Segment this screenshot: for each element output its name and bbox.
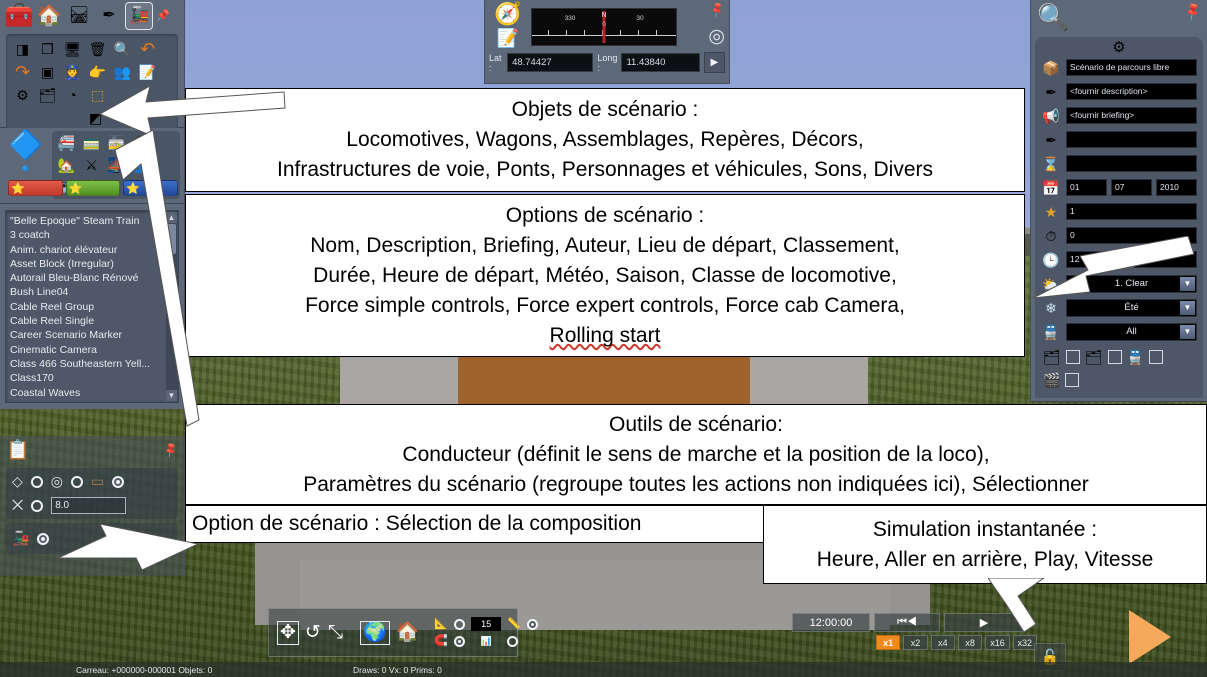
duration-field[interactable]: 0 bbox=[1066, 227, 1197, 244]
pin-icon[interactable]: 📌 bbox=[156, 3, 170, 29]
left-toolbar-panel: 🧰 🏠 🛤 ✒ 🚂 📌 ◨ ❐ 🖥 🗑 🔍 ↶ ↷ ▣ 👮 👉 👥 📝 ⚙ bbox=[0, 0, 185, 128]
date-month-field[interactable]: 07 bbox=[1111, 179, 1152, 196]
texture-tool-radio[interactable] bbox=[112, 476, 124, 488]
scenario-briefing-field[interactable]: <fournir briefing> bbox=[1066, 107, 1197, 124]
annotation-line: Nom, Description, Briefing, Auteur, Lieu… bbox=[192, 231, 1018, 261]
calendar-icon: 📅 bbox=[1041, 180, 1061, 196]
rating-stars-icon: ★ bbox=[1041, 204, 1061, 220]
force-simple-controls-icon: 🗂 bbox=[1043, 350, 1061, 364]
copy-icon[interactable]: ❐ bbox=[35, 37, 60, 60]
ruler-radio[interactable] bbox=[527, 619, 538, 630]
compass-strip[interactable]: 330 30 N 0 bbox=[531, 8, 677, 46]
compass-right-icons: 📌 ◎ bbox=[708, 4, 725, 48]
terrain-tool-options: ◇ ◎ ▭ ⨉ 8.0 bbox=[6, 468, 178, 519]
loco-class-select-value: All bbox=[1126, 326, 1137, 337]
scenery-icon[interactable]: 🏡 bbox=[54, 154, 79, 176]
camera-lens-icon[interactable]: ◎ bbox=[708, 25, 725, 48]
playback-speed-controls: x1 x2 x4 x8 x16 x32 bbox=[792, 635, 1037, 650]
date-fields: 01 07 2010 bbox=[1066, 179, 1197, 196]
scenario-flags-row-2: 🎬 bbox=[1041, 373, 1197, 387]
season-icon: ❄ bbox=[1041, 300, 1061, 316]
loco-tool-row: 🚂 bbox=[12, 530, 172, 547]
scenario-duration-row: ⏱ 0 bbox=[1041, 226, 1197, 245]
rating-field[interactable]: 1 bbox=[1066, 203, 1197, 220]
snap-row-2: 🧲 📊 bbox=[434, 634, 537, 648]
terrain-tool-row-1: ◇ ◎ ▭ bbox=[12, 473, 172, 490]
assembly-icon[interactable]: 🚋 bbox=[104, 132, 129, 154]
loco-tool-icon[interactable]: 🚂 bbox=[12, 530, 29, 547]
list-item[interactable]: 3 coatch bbox=[10, 228, 174, 242]
marker-post-icon[interactable]: 🚦 bbox=[129, 132, 154, 154]
coordinates-row: Lat : 48.74427 Long : 11.43840 ▶ bbox=[489, 52, 725, 73]
favorites-red[interactable]: ⭐ bbox=[8, 180, 63, 196]
simulation-playback-bar: 12:00:00 ⏮◀ ▶ x1 x2 x4 x8 x16 x32 bbox=[792, 613, 1037, 649]
scenario-description-icon: ✒ bbox=[1041, 84, 1061, 100]
view-tools-group: 🌍 🏠 bbox=[352, 609, 428, 656]
screen-icon[interactable]: 🖥 bbox=[60, 37, 85, 60]
wagon-icon[interactable]: 🚃 bbox=[79, 132, 104, 154]
asset-list[interactable]: "Belle Epoque" Steam Train 3 coatch Anim… bbox=[5, 210, 179, 403]
gradient-tool-icon[interactable]: ◇ bbox=[12, 473, 23, 490]
weather-icon: ⛅ bbox=[1041, 276, 1061, 292]
scenario-name-icon: 📦 bbox=[1041, 60, 1061, 76]
loco-class-icon: 🚆 bbox=[1041, 324, 1061, 340]
people-icon[interactable]: 👥 bbox=[110, 60, 135, 83]
list-item[interactable]: Bush Line04 bbox=[10, 285, 174, 299]
force-cab-camera-icon: 🚆 bbox=[1127, 350, 1144, 364]
annotation-line: Objets de scénario : bbox=[192, 95, 1018, 125]
scenario-start-time-row: 🕒 12 00 bbox=[1041, 250, 1197, 269]
list-item[interactable]: Autorail Bleu-Blanc Rénové bbox=[10, 271, 174, 285]
annotation-scenario-options: Options de scénario : Nom, Description, … bbox=[185, 194, 1025, 357]
simulation-time-display[interactable]: 12:00:00 bbox=[792, 613, 870, 632]
weather-select[interactable]: 1. Clear ▼ bbox=[1066, 275, 1197, 293]
instruction-icon[interactable]: 📝 bbox=[135, 60, 160, 83]
terrain-tools-header: 📋 📌 bbox=[0, 436, 184, 464]
scenario-name-field[interactable]: Scénario de parcours libre bbox=[1066, 59, 1197, 76]
duration-icon: ⏱ bbox=[1041, 228, 1061, 244]
speed-x1-button[interactable]: x1 bbox=[876, 635, 900, 650]
season-select-value: Été bbox=[1124, 302, 1138, 313]
scenario-loco-class-row: 🚆 All ▼ bbox=[1041, 322, 1197, 341]
favorites-blue[interactable]: ⭐ bbox=[123, 180, 178, 196]
transform-tools-group: ✥ ↺ ⤡ bbox=[269, 609, 352, 656]
list-item[interactable]: Career Scenario Marker bbox=[10, 328, 174, 342]
star-icon: ⭐ bbox=[69, 182, 83, 195]
track-infrastructure-icon[interactable]: ⚔ bbox=[79, 154, 104, 176]
redo-icon[interactable]: ↷ bbox=[10, 60, 35, 83]
annotation-scenario-objects: Objets de scénario : Locomotives, Wagons… bbox=[185, 88, 1025, 192]
track-icon[interactable]: 🛤 bbox=[66, 3, 92, 29]
rolling-start-checkbox[interactable] bbox=[1065, 373, 1079, 387]
compass-north-label: N bbox=[601, 12, 606, 19]
consist-icon[interactable]: ▣ bbox=[35, 60, 60, 83]
pin-icon[interactable]: 📌 bbox=[1182, 1, 1204, 23]
loco-tool-radio[interactable] bbox=[37, 533, 49, 545]
pin-icon[interactable]: 📌 bbox=[706, 0, 727, 20]
lat-label: Lat : bbox=[489, 53, 503, 73]
compass-tick-label-330: 330 bbox=[565, 15, 576, 22]
asset-list-scrollbar[interactable]: ▲ ▼ bbox=[166, 212, 177, 401]
force-cab-camera-checkbox[interactable] bbox=[1149, 350, 1163, 364]
magnet-radio[interactable] bbox=[454, 636, 465, 647]
list-item[interactable]: Class170 bbox=[10, 371, 174, 385]
home-view-icon[interactable]: 🏠 bbox=[396, 623, 420, 643]
cube-small-icon[interactable]: 🔹 bbox=[15, 160, 36, 177]
loco-tool-box: 🚂 bbox=[6, 523, 178, 554]
scenario-start-location-icon: ⌛ bbox=[1041, 156, 1061, 172]
cube-large-icon[interactable]: 🔷 bbox=[9, 131, 44, 159]
list-item[interactable]: Cable Reel Group bbox=[10, 300, 174, 314]
favorites-green[interactable]: ⭐ bbox=[66, 180, 121, 196]
annotation-line: Options de scénario : bbox=[192, 201, 1018, 231]
terrain-tool-row-2: ⨉ 8.0 bbox=[12, 497, 172, 514]
speed-x8-button[interactable]: x8 bbox=[958, 635, 982, 650]
locomotive-icon[interactable]: 🚝 bbox=[54, 132, 79, 154]
long-label: Long : bbox=[597, 53, 617, 73]
scenario-properties-body: ⚙ 📦 Scénario de parcours libre ✒ <fourni… bbox=[1035, 36, 1203, 398]
speed-x4-button[interactable]: x4 bbox=[931, 635, 955, 650]
list-item[interactable]: "Belle Epoque" Steam Train bbox=[10, 214, 174, 228]
annotation-line: Force simple controls, Force expert cont… bbox=[192, 291, 1018, 321]
clock-icon: 🕒 bbox=[1041, 252, 1061, 268]
annotation-line: Conducteur (définit le sens de marche et… bbox=[192, 440, 1200, 470]
force-expert-controls-checkbox[interactable] bbox=[1108, 350, 1122, 364]
season-select[interactable]: Été ▼ bbox=[1066, 299, 1197, 317]
play-button[interactable]: ▶ bbox=[944, 613, 1024, 632]
delete-icon[interactable]: 🗑 bbox=[85, 37, 110, 60]
rewind-button[interactable]: ⏮◀ bbox=[874, 613, 940, 632]
list-item[interactable]: Asset Block (Irregular) bbox=[10, 257, 174, 271]
annotation-consist-selection: Option de scénario : Sélection de la com… bbox=[185, 505, 765, 543]
rotate-tool-icon[interactable]: ↺ bbox=[305, 623, 321, 643]
brush-size-field[interactable]: 8.0 bbox=[51, 497, 126, 514]
gradient-tool-radio[interactable] bbox=[31, 476, 43, 488]
marker-icon[interactable]: 🔍 bbox=[110, 37, 135, 60]
snap-value-field[interactable]: 15 bbox=[471, 617, 501, 631]
list-item[interactable]: Class 466 Southeastern Yell... bbox=[10, 357, 174, 371]
start-time-fields: 12 00 bbox=[1066, 251, 1197, 268]
gradient-snap-icon[interactable]: 📐 bbox=[434, 618, 448, 630]
annotation-line: Simulation instantanée : bbox=[770, 515, 1200, 545]
note-icon[interactable]: 📋 bbox=[6, 438, 30, 462]
scenario-properties-header: 🔍 📌 bbox=[1031, 0, 1207, 36]
annotation-line: Paramètres du scénario (regroupe toutes … bbox=[192, 470, 1200, 500]
status-render-info: Draws: 0 Vx: 0 Prims: 0 bbox=[353, 665, 442, 675]
force-simple-controls-checkbox[interactable] bbox=[1066, 350, 1080, 364]
note-icon[interactable]: 📝 bbox=[489, 26, 527, 50]
asset-list-items: "Belle Epoque" Steam Train 3 coatch Anim… bbox=[6, 211, 178, 403]
coords-radio[interactable] bbox=[507, 636, 518, 647]
main-tool-row: 🧰 🏠 🛤 ✒ 🚂 📌 bbox=[0, 0, 184, 32]
date-day-field[interactable]: 01 bbox=[1066, 179, 1107, 196]
circle-tool-icon[interactable]: ◎ bbox=[51, 473, 63, 490]
scenario-tool-grid: ◨ ❐ 🖥 🗑 🔍 ↶ ↷ ▣ 👮 👉 👥 📝 ⚙ 🗂 ◔ ⬚ ◩ bbox=[10, 37, 174, 129]
circle-tool-radio[interactable] bbox=[71, 476, 83, 488]
annotation-line: Durée, Heure de départ, Météo, Saison, C… bbox=[192, 261, 1018, 291]
lat-field[interactable]: 48.74427 bbox=[507, 53, 593, 72]
start-time-minutes-field[interactable]: 00 bbox=[1134, 251, 1198, 268]
compass-coordinates-panel: 🧭 📝 330 30 N 0 📌 ◎ Lat : 48.74427 Long : bbox=[484, 0, 730, 84]
smooth-tool-icon[interactable]: ⨉ bbox=[12, 497, 23, 514]
asset-list-panel: "Belle Epoque" Steam Train 3 coatch Anim… bbox=[0, 204, 185, 409]
scenario-start-location-field[interactable] bbox=[1066, 155, 1197, 172]
chevron-down-icon[interactable]: ▼ bbox=[1180, 277, 1195, 291]
magnifier-icon[interactable]: 🔍 bbox=[1037, 2, 1069, 33]
chevron-down-icon[interactable]: ▼ bbox=[1180, 301, 1195, 315]
select-rect-icon[interactable]: ⬚ bbox=[85, 83, 110, 106]
magnet-icon[interactable]: 🧲 bbox=[434, 635, 448, 647]
playback-controls: 12:00:00 ⏮◀ ▶ bbox=[792, 613, 1037, 632]
list-item[interactable]: Cable Reel Single bbox=[10, 314, 174, 328]
speed-x16-button[interactable]: x16 bbox=[985, 635, 1009, 650]
goto-coordinates-button[interactable]: ▶ bbox=[704, 52, 725, 73]
annotation-line: Locomotives, Wagons, Assemblages, Repère… bbox=[192, 125, 1018, 155]
scenario-name-row: 📦 Scénario de parcours libre bbox=[1041, 58, 1197, 77]
home-icon[interactable]: 🏠 bbox=[36, 3, 62, 29]
list-item[interactable]: Anim. chariot élévateur bbox=[10, 243, 174, 257]
ruler-icon[interactable]: 📏 bbox=[507, 618, 521, 630]
scenario-author-field[interactable] bbox=[1066, 131, 1197, 148]
gears-icon: ⚙ bbox=[1041, 40, 1197, 58]
status-bar: Carreau: +000000-000001 Objets: 0 Draws:… bbox=[0, 662, 1207, 677]
compass-rose-icon[interactable]: 🧭 bbox=[489, 2, 527, 26]
scenario-author-icon: ✒ bbox=[1041, 132, 1061, 148]
annotation-line: Heure, Aller en arrière, Play, Vitesse bbox=[770, 545, 1200, 575]
annotation-line: Infrastructures de voie, Ponts, Personna… bbox=[192, 155, 1018, 185]
scenario-start-location-row: ⌛ bbox=[1041, 154, 1197, 173]
star-icon: ⭐ bbox=[11, 182, 25, 195]
settings-block-icon[interactable]: 🗂 bbox=[35, 83, 60, 106]
pin-icon[interactable]: 📌 bbox=[162, 441, 181, 460]
driver-icon[interactable]: 👮 bbox=[60, 60, 85, 83]
play-triangle-icon bbox=[1129, 610, 1171, 664]
scenario-date-row: 📅 01 07 2010 bbox=[1041, 178, 1197, 197]
annotation-scenario-tools: Outils de scénario: Conducteur (définit … bbox=[185, 404, 1207, 505]
gradient-snap-radio[interactable] bbox=[454, 619, 465, 630]
compass-zero-label: 0 bbox=[602, 21, 606, 28]
person-icon[interactable]: 👤 bbox=[129, 154, 154, 176]
move-tool-icon[interactable]: ✥ bbox=[278, 622, 298, 644]
scenario-rating-row: ★ 1 bbox=[1041, 202, 1197, 221]
brush-icon[interactable]: ✒ bbox=[96, 3, 122, 29]
viewport-toolbar: ✥ ↺ ⤡ 🌍 🏠 📐 15 📏 🧲 📊 bbox=[268, 608, 518, 657]
speed-x2-button[interactable]: x2 bbox=[903, 635, 927, 650]
undo-icon[interactable]: ↶ bbox=[135, 37, 160, 60]
start-time-hours-field[interactable]: 12 bbox=[1066, 251, 1130, 268]
terrain-tools-panel: 📋 📌 ◇ ◎ ▭ ⨉ 8.0 🚂 bbox=[0, 436, 185, 576]
scrollbar-thumb[interactable] bbox=[167, 224, 176, 254]
bridge-icon[interactable]: 🌉 bbox=[104, 154, 129, 176]
scenario-flags-row-1: 🗂 🗂 🚆 bbox=[1041, 350, 1197, 364]
train-scenario-icon[interactable]: 🚂 bbox=[126, 3, 152, 29]
flip-icon[interactable]: ◨ bbox=[10, 37, 35, 60]
rolling-start-icon: 🎬 bbox=[1043, 373, 1060, 387]
compass-tick-label-30: 30 bbox=[636, 15, 643, 22]
scenario-description-field[interactable]: <fournir description> bbox=[1066, 83, 1197, 100]
long-field[interactable]: 11.43840 bbox=[621, 53, 699, 72]
toolbox-icon[interactable]: 🧰 bbox=[6, 3, 32, 29]
annotation-instant-simulation: Simulation instantanée : Heure, Aller en… bbox=[763, 505, 1207, 584]
snap-row-1: 📐 15 📏 bbox=[434, 617, 537, 631]
coords-icon[interactable]: 📊 bbox=[471, 634, 501, 648]
scroll-up-icon[interactable]: ▲ bbox=[166, 212, 177, 223]
world-view-icon[interactable]: 🌍 bbox=[361, 622, 389, 644]
clock-icon[interactable]: ◔ bbox=[60, 83, 85, 106]
scenario-weather-row: ⛅ 1. Clear ▼ bbox=[1041, 274, 1197, 293]
annotation-line: Option de scénario : Sélection de la com… bbox=[192, 509, 641, 539]
scale-tool-icon[interactable]: ⤡ bbox=[328, 623, 343, 643]
scenario-tools-subpanel: ◨ ❐ 🖥 🗑 🔍 ↶ ↷ ▣ 👮 👉 👥 📝 ⚙ 🗂 ◔ ⬚ ◩ bbox=[6, 34, 178, 132]
chevron-down-icon[interactable]: ▼ bbox=[1180, 325, 1195, 339]
loco-class-select[interactable]: All ▼ bbox=[1066, 323, 1197, 341]
compass-left-icons: 🧭 📝 bbox=[489, 2, 527, 50]
snap-tools-group: 📐 15 📏 🧲 📊 bbox=[428, 617, 543, 648]
force-expert-controls-icon: 🗂 bbox=[1085, 350, 1103, 364]
scenario-author-row: ✒ bbox=[1041, 130, 1197, 149]
favorites-bars: ⭐ ⭐ ⭐ bbox=[8, 180, 178, 196]
scenario-params-icon[interactable]: ⚙ bbox=[10, 83, 35, 106]
list-item[interactable]: Coastal Waves bbox=[10, 386, 174, 400]
screenshot-root: 🧰 🏠 🛤 ✒ 🚂 📌 ◨ ❐ 🖥 🗑 🔍 ↶ ↷ ▣ 👮 👉 👥 📝 ⚙ bbox=[0, 0, 1207, 677]
annotation-line: Outils de scénario: bbox=[192, 410, 1200, 440]
star-icon: ⭐ bbox=[126, 182, 140, 195]
paint-tool-icon[interactable]: ◩ bbox=[83, 106, 108, 129]
texture-tool-icon[interactable]: ▭ bbox=[91, 473, 104, 490]
run-scenario-button[interactable] bbox=[1118, 608, 1182, 666]
scenario-description-row: ✒ <fournir description> bbox=[1041, 82, 1197, 101]
scroll-down-icon[interactable]: ▼ bbox=[166, 390, 177, 401]
smooth-tool-radio[interactable] bbox=[31, 500, 43, 512]
list-item[interactable]: Cinematic Camera bbox=[10, 343, 174, 357]
annotation-line-spellchecked: Rolling start bbox=[192, 321, 1018, 351]
scenario-properties-panel: 🔍 📌 ⚙ 📦 Scénario de parcours libre ✒ <fo… bbox=[1030, 0, 1207, 402]
hand-pointer-icon[interactable]: 👉 bbox=[85, 60, 110, 83]
weather-select-value: 1. Clear bbox=[1115, 278, 1148, 289]
scenario-season-row: ❄ Été ▼ bbox=[1041, 298, 1197, 317]
scenario-briefing-icon: 📢 bbox=[1041, 108, 1061, 124]
status-tile-info: Carreau: +000000-000001 Objets: 0 bbox=[76, 665, 212, 675]
scenario-briefing-row: 📢 <fournir briefing> bbox=[1041, 106, 1197, 125]
date-year-field[interactable]: 2010 bbox=[1156, 179, 1197, 196]
